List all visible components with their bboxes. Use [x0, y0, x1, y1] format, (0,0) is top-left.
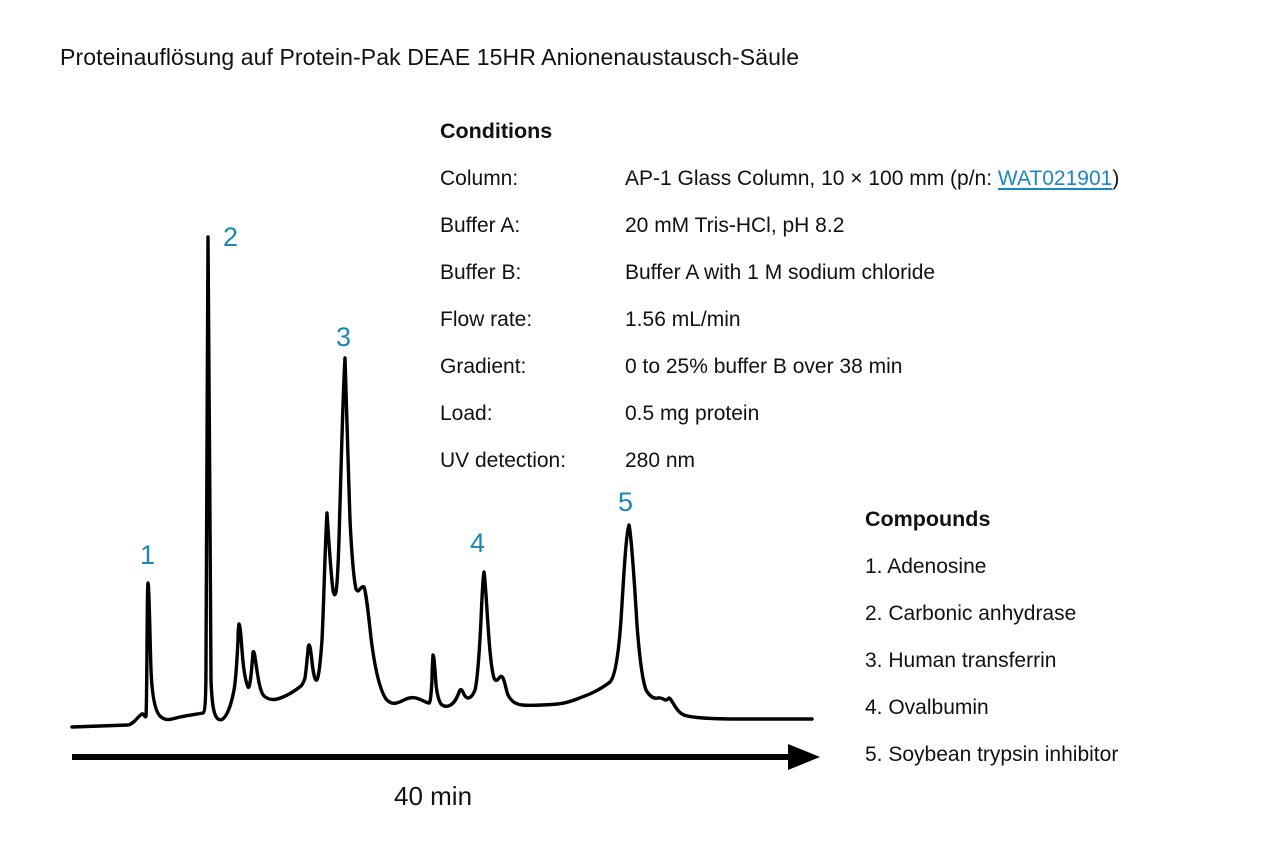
condition-value-column-suffix: ) — [1112, 167, 1119, 190]
condition-row-flow-rate: Flow rate: 1.56 mL/min — [440, 296, 1119, 343]
condition-value-flow-rate: 1.56 mL/min — [625, 296, 741, 343]
condition-label-uv-detection: UV detection: — [440, 437, 625, 484]
condition-row-buffer-b: Buffer B: Buffer A with 1 M sodium chlor… — [440, 249, 1119, 296]
condition-label-gradient: Gradient: — [440, 343, 625, 390]
condition-label-load: Load: — [440, 390, 625, 437]
condition-label-buffer-a: Buffer A: — [440, 202, 625, 249]
condition-row-column: Column: AP-1 Glass Column, 10 × 100 mm (… — [440, 155, 1119, 202]
condition-label-column: Column: — [440, 155, 625, 202]
compounds-panel: Compounds 1. Adenosine 2. Carbonic anhyd… — [865, 496, 1118, 778]
condition-value-load: 0.5 mg protein — [625, 390, 759, 437]
condition-label-flow-rate: Flow rate: — [440, 296, 625, 343]
compound-item-2: 2. Carbonic anhydrase — [865, 590, 1118, 637]
peak-label-5: 5 — [618, 489, 633, 516]
condition-row-uv-detection: UV detection: 280 nm — [440, 437, 1119, 484]
condition-value-uv-detection: 280 nm — [625, 437, 695, 484]
conditions-panel: Conditions Column: AP-1 Glass Column, 10… — [440, 108, 1119, 484]
compound-item-3: 3. Human transferrin — [865, 637, 1118, 684]
conditions-heading: Conditions — [440, 108, 1119, 155]
peak-label-4: 4 — [470, 530, 485, 557]
x-axis-arrow — [72, 744, 820, 770]
peak-label-1: 1 — [140, 542, 155, 569]
condition-value-column: AP-1 Glass Column, 10 × 100 mm (p/n: WAT… — [625, 155, 1119, 202]
peak-label-2: 2 — [223, 224, 238, 251]
peak-label-3: 3 — [336, 324, 351, 351]
condition-value-buffer-b: Buffer A with 1 M sodium chloride — [625, 249, 935, 296]
condition-row-gradient: Gradient: 0 to 25% buffer B over 38 min — [440, 343, 1119, 390]
x-axis-caption: 40 min — [394, 781, 472, 812]
figure-root: Proteinauflösung auf Protein-Pak DEAE 15… — [0, 0, 1280, 853]
compound-item-5: 5. Soybean trypsin inhibitor — [865, 731, 1118, 778]
compound-item-1: 1. Adenosine — [865, 543, 1118, 590]
condition-row-buffer-a: Buffer A: 20 mM Tris-HCl, pH 8.2 — [440, 202, 1119, 249]
compounds-heading: Compounds — [865, 496, 1118, 543]
condition-row-load: Load: 0.5 mg protein — [440, 390, 1119, 437]
condition-label-buffer-b: Buffer B: — [440, 249, 625, 296]
condition-value-buffer-a: 20 mM Tris-HCl, pH 8.2 — [625, 202, 844, 249]
condition-value-column-prefix: AP-1 Glass Column, 10 × 100 mm (p/n: — [625, 167, 998, 190]
compound-item-4: 4. Ovalbumin — [865, 684, 1118, 731]
part-number-link[interactable]: WAT021901 — [998, 167, 1112, 190]
condition-value-gradient: 0 to 25% buffer B over 38 min — [625, 343, 902, 390]
